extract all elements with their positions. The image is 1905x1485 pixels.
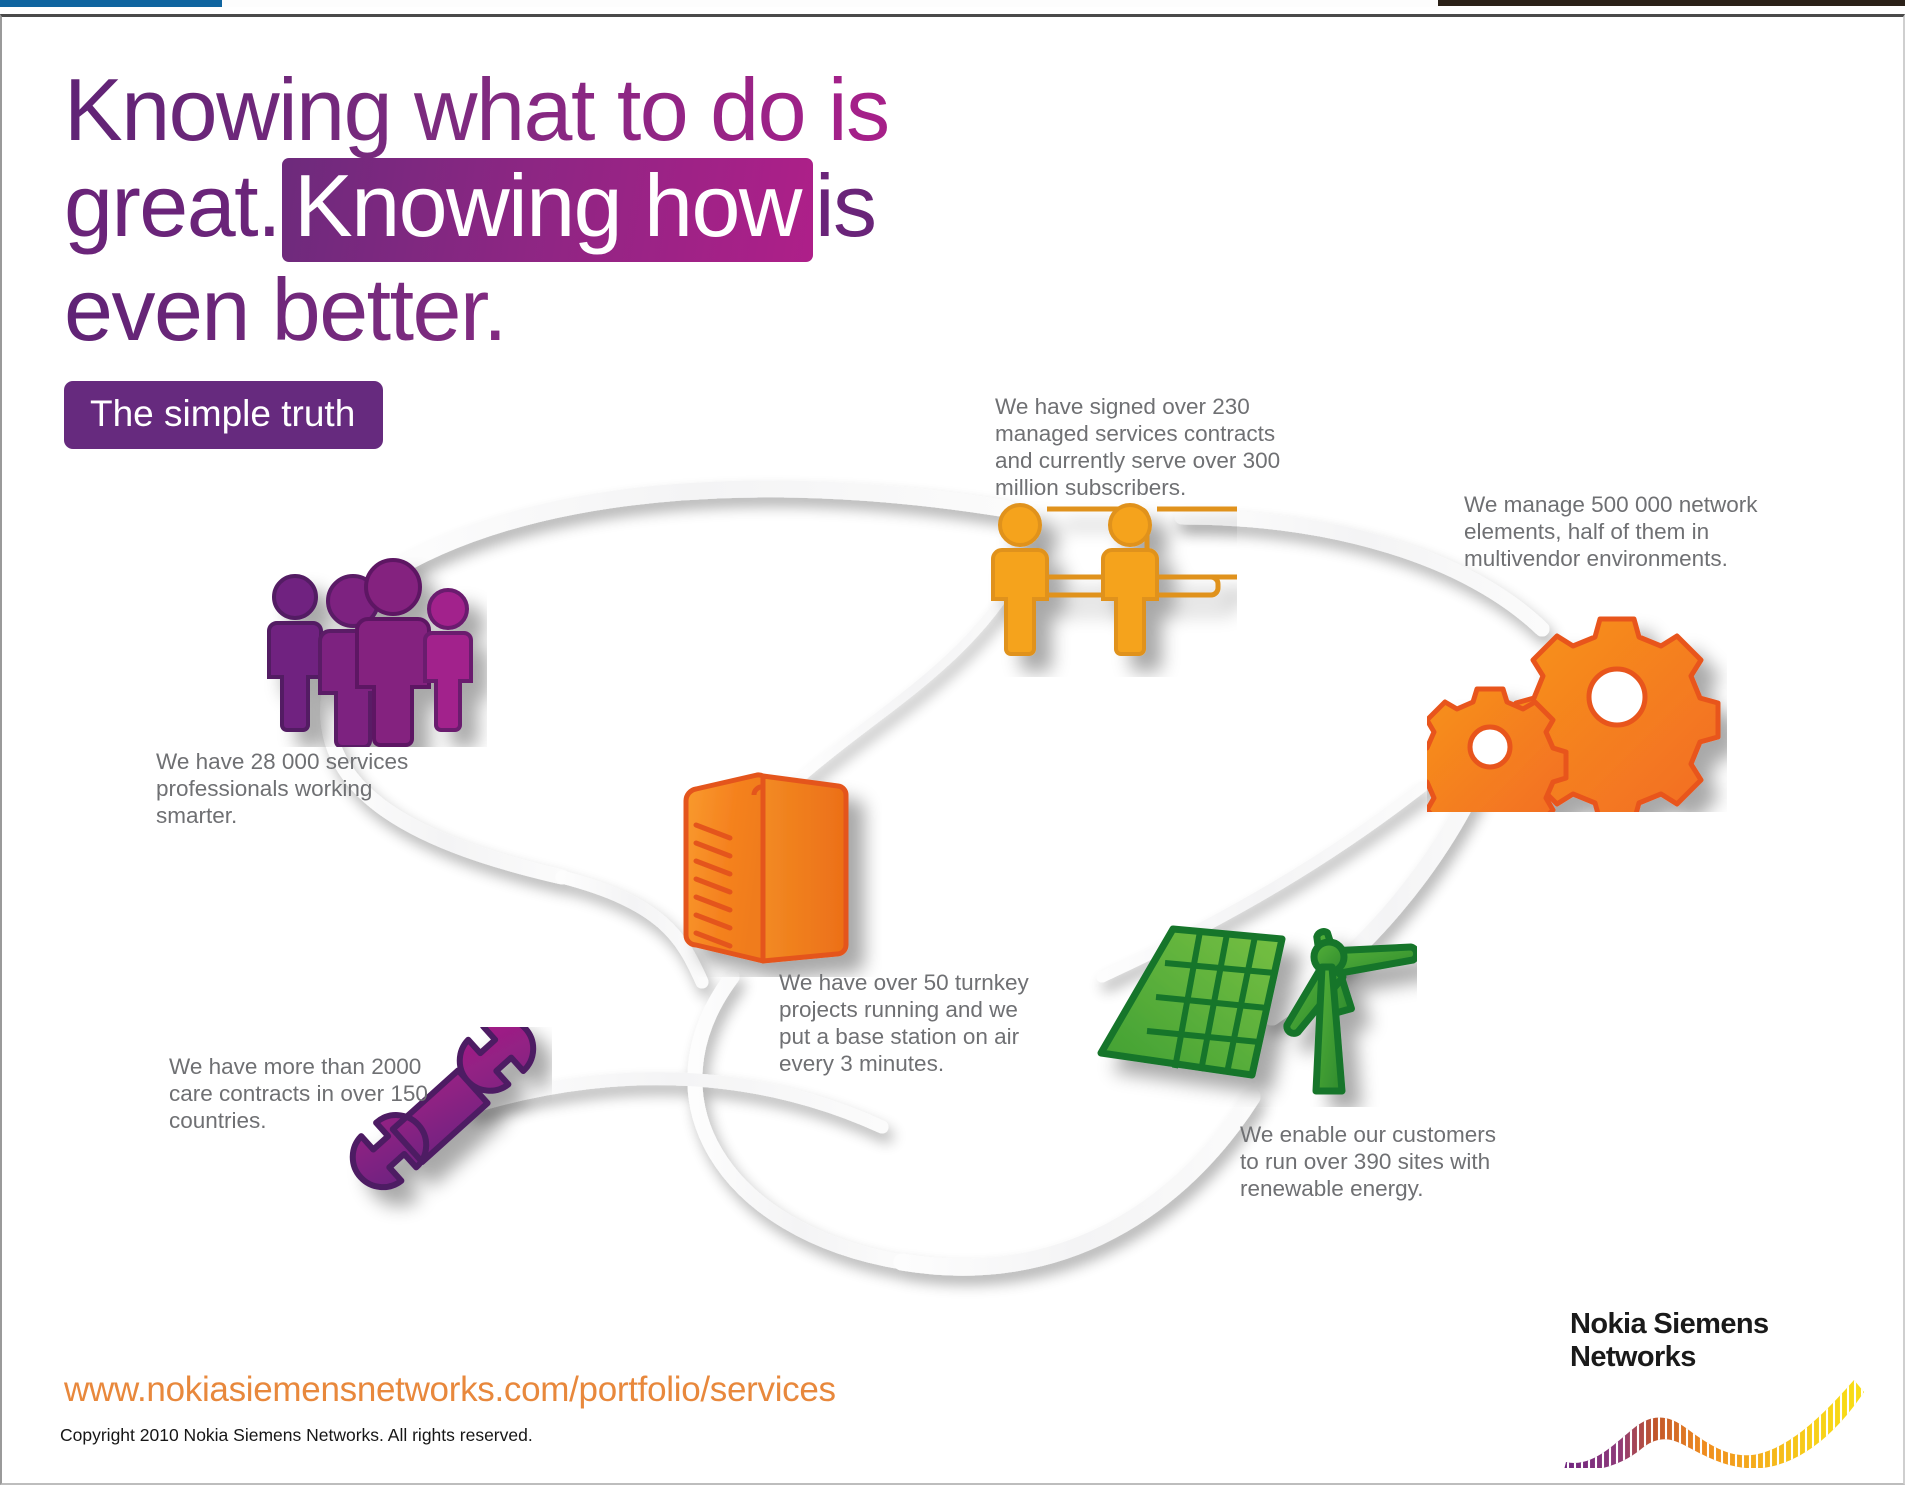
footer-copyright: Copyright 2010 Nokia Siemens Networks. A… — [60, 1425, 533, 1445]
gears-icon — [1427, 592, 1727, 817]
browser-chrome — [0, 0, 1905, 12]
page-title: Knowing what to do is great.Knowing howi… — [64, 62, 1144, 358]
logo-wordmark-line1: Nokia Siemens — [1570, 1308, 1769, 1340]
footer-website-url[interactable]: www.nokiasiemensnetworks.com/portfolio/s… — [64, 1371, 836, 1409]
headline-line-2-prefix: great. — [64, 156, 280, 255]
two-agents-with-screens-icon — [987, 497, 1237, 682]
callout-services-professionals: We have 28 000 services professionals wo… — [156, 748, 456, 829]
infographic-poster: Knowing what to do is great.Knowing howi… — [0, 14, 1905, 1485]
headline-highlight: Knowing how — [282, 158, 813, 262]
headline-line-2: great.Knowing howis — [64, 158, 1144, 262]
headline-line-2-suffix: is — [815, 156, 876, 255]
base-station-cabinet-icon — [662, 757, 882, 982]
headline-line-3: even better. — [64, 262, 1144, 358]
browser-secondary-strip — [1438, 0, 1905, 6]
logo-wordmark: Nokia SiemensNetworks — [1570, 1308, 1769, 1374]
wind-turbine — [1287, 930, 1417, 1091]
callout-turnkey-projects: We have over 50 turnkey projects running… — [779, 969, 1029, 1077]
group-of-people-icon — [257, 557, 487, 752]
logo-wordmark-line2: Networks — [1570, 1341, 1696, 1373]
solar-panel — [1101, 929, 1282, 1075]
callout-managed-services: We have signed over 230 managed services… — [995, 393, 1315, 501]
logo-wave-icon — [1562, 1376, 1874, 1468]
solar-panel-and-wind-turbine-icon — [1077, 857, 1417, 1112]
browser-toolbar-strip — [222, 0, 1438, 7]
callout-renewable-energy: We enable our customers to run over 390 … — [1240, 1121, 1500, 1202]
browser-active-tab-indicator[interactable] — [0, 0, 222, 7]
callout-care-contracts: We have more than 2000 care contracts in… — [169, 1053, 449, 1134]
simple-truth-badge: The simple truth — [64, 381, 383, 449]
callout-network-elements: We manage 500 000 network elements, half… — [1464, 491, 1784, 572]
headline-line-1: Knowing what to do is — [64, 62, 1144, 158]
nokia-siemens-networks-logo: Nokia SiemensNetworks — [1568, 1308, 1878, 1463]
